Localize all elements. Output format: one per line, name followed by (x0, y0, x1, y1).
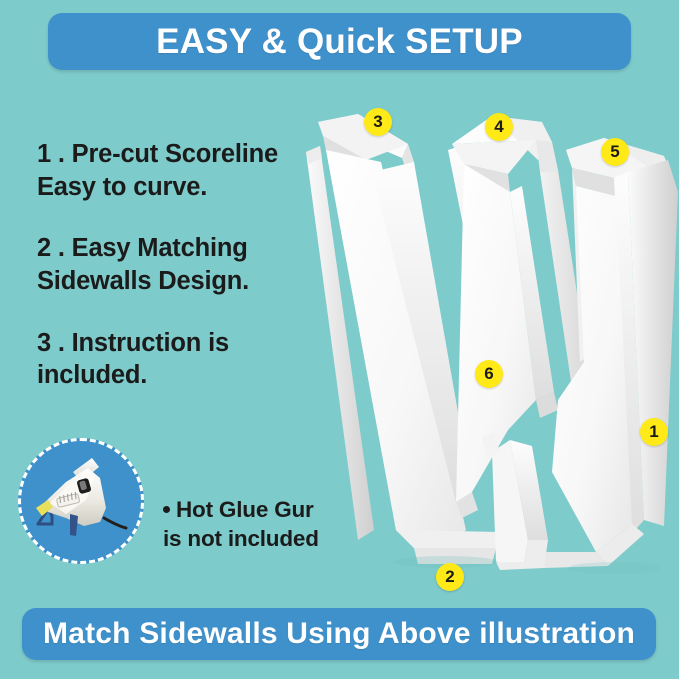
badge-3-label: 3 (373, 112, 382, 132)
badge-6-label: 6 (484, 364, 493, 384)
glue-gun-icon (26, 446, 136, 556)
top-banner-title: EASY & Quick SETUP (156, 22, 523, 62)
badge-1: 1 (640, 418, 668, 446)
bullet-icon (163, 506, 170, 513)
feature-item-1-line-2: Easy to curve. (37, 171, 327, 204)
badge-1-label: 1 (649, 422, 658, 442)
badge-4: 4 (485, 113, 513, 141)
feature-item-3: 3 . Instruction is included. (37, 327, 327, 392)
infographic-canvas: EASY & Quick SETUP 1 . Pre-cut Scoreline… (0, 0, 679, 679)
feature-item-3-line-2: included. (37, 359, 327, 392)
glue-gun-label: Hot Glue Gur (176, 497, 314, 522)
top-banner: EASY & Quick SETUP (48, 13, 631, 70)
feature-list: 1 . Pre-cut Scoreline Easy to curve. 2 .… (37, 138, 327, 421)
badge-5-label: 5 (610, 142, 619, 162)
badge-6: 6 (475, 360, 503, 388)
feature-item-1-line-1: 1 . Pre-cut Scoreline (37, 138, 327, 171)
badge-4-label: 4 (494, 117, 503, 137)
feature-item-2-line-1: 2 . Easy Matching (37, 232, 327, 265)
feature-item-2-line-2: Sidewalls Design. (37, 265, 327, 298)
badge-5: 5 (601, 138, 629, 166)
glue-gun-note: Hot Glue Gur is not included (18, 438, 338, 568)
feature-item-3-line-1: 3 . Instruction is (37, 327, 327, 360)
badge-2: 2 (436, 563, 464, 591)
badge-2-label: 2 (445, 567, 454, 587)
bottom-banner-title: Match Sidewalls Using Above illustration (43, 617, 635, 651)
badge-3: 3 (364, 108, 392, 136)
letter-w-illustration (296, 100, 679, 590)
feature-item-2: 2 . Easy Matching Sidewalls Design. (37, 232, 327, 297)
bottom-banner: Match Sidewalls Using Above illustration (22, 608, 656, 660)
feature-item-1: 1 . Pre-cut Scoreline Easy to curve. (37, 138, 327, 203)
